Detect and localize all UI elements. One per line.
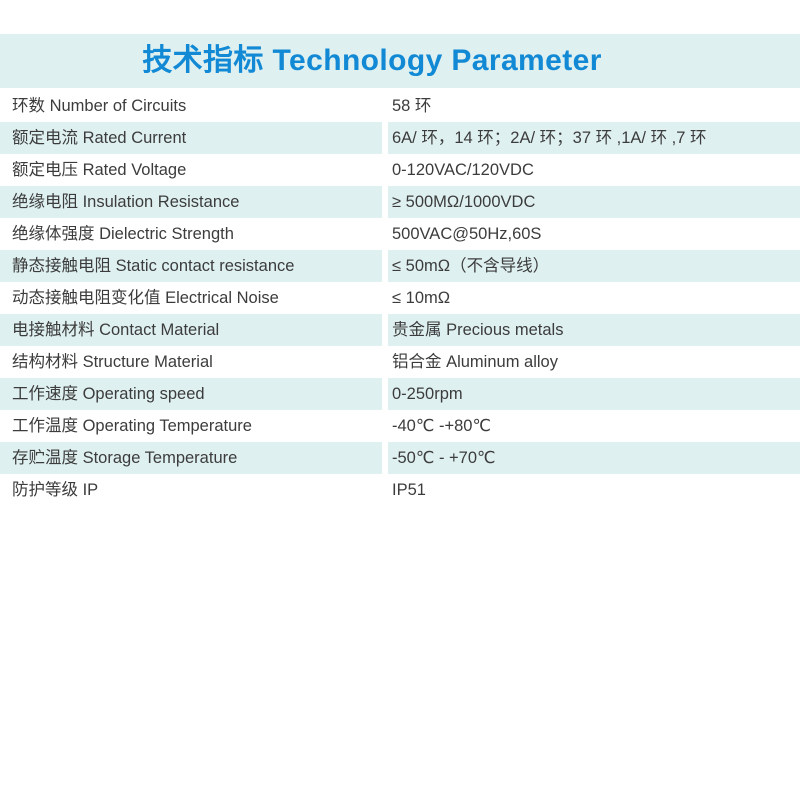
spec-label: 防护等级 IP — [0, 474, 382, 506]
spec-value: 贵金属 Precious metals — [388, 314, 800, 346]
spec-label: 工作温度 Operating Temperature — [0, 410, 382, 442]
table-row: 工作速度 Operating speed 0-250rpm — [0, 378, 800, 410]
table-row: 动态接触电阻变化值 Electrical Noise ≤ 10mΩ — [0, 282, 800, 314]
spec-label: 动态接触电阻变化值 Electrical Noise — [0, 282, 382, 314]
spec-label: 存贮温度 Storage Temperature — [0, 442, 382, 474]
table-row: 环数 Number of Circuits 58 环 — [0, 90, 800, 122]
spec-sheet-page: 技术指标 Technology Parameter 环数 Number of C… — [0, 0, 800, 800]
spec-label: 绝缘电阻 Insulation Resistance — [0, 186, 382, 218]
spec-value: ≤ 10mΩ — [388, 282, 800, 314]
spec-value: ≤ 50mΩ（不含导线） — [388, 250, 800, 282]
spec-value: IP51 — [388, 474, 800, 506]
table-row: 防护等级 IP IP51 — [0, 474, 800, 506]
spec-value: 铝合金 Aluminum alloy — [388, 346, 800, 378]
specification-table: 环数 Number of Circuits 58 环 额定电流 Rated Cu… — [0, 90, 800, 506]
spec-label: 环数 Number of Circuits — [0, 90, 382, 122]
spec-value: -40℃ -+80℃ — [388, 410, 800, 442]
spec-value: 6A/ 环，14 环；2A/ 环；37 环 ,1A/ 环 ,7 环 — [388, 122, 800, 154]
table-row: 额定电流 Rated Current 6A/ 环，14 环；2A/ 环；37 环… — [0, 122, 800, 154]
spec-value: ≥ 500MΩ/1000VDC — [388, 186, 800, 218]
table-row: 工作温度 Operating Temperature -40℃ -+80℃ — [0, 410, 800, 442]
table-row: 存贮温度 Storage Temperature -50℃ - +70℃ — [0, 442, 800, 474]
page-title: 技术指标 Technology Parameter — [142, 46, 602, 76]
title-band: 技术指标 Technology Parameter — [0, 34, 800, 88]
table-row: 结构材料 Structure Material 铝合金 Aluminum all… — [0, 346, 800, 378]
table-row: 绝缘电阻 Insulation Resistance ≥ 500MΩ/1000V… — [0, 186, 800, 218]
table-row: 电接触材料 Contact Material 贵金属 Precious meta… — [0, 314, 800, 346]
table-row: 绝缘体强度 Dielectric Strength 500VAC@50Hz,60… — [0, 218, 800, 250]
spec-value: 0-250rpm — [388, 378, 800, 410]
table-row: 额定电压 Rated Voltage 0-120VAC/120VDC — [0, 154, 800, 186]
spec-label: 额定电压 Rated Voltage — [0, 154, 382, 186]
spec-value: 0-120VAC/120VDC — [388, 154, 800, 186]
spec-label: 绝缘体强度 Dielectric Strength — [0, 218, 382, 250]
spec-label: 工作速度 Operating speed — [0, 378, 382, 410]
spec-label: 静态接触电阻 Static contact resistance — [0, 250, 382, 282]
spec-value: -50℃ - +70℃ — [388, 442, 800, 474]
spec-label: 电接触材料 Contact Material — [0, 314, 382, 346]
specification-table-body: 环数 Number of Circuits 58 环 额定电流 Rated Cu… — [0, 90, 800, 506]
spec-value: 58 环 — [388, 90, 800, 122]
spec-label: 结构材料 Structure Material — [0, 346, 382, 378]
table-row: 静态接触电阻 Static contact resistance ≤ 50mΩ（… — [0, 250, 800, 282]
spec-label: 额定电流 Rated Current — [0, 122, 382, 154]
spec-value: 500VAC@50Hz,60S — [388, 218, 800, 250]
